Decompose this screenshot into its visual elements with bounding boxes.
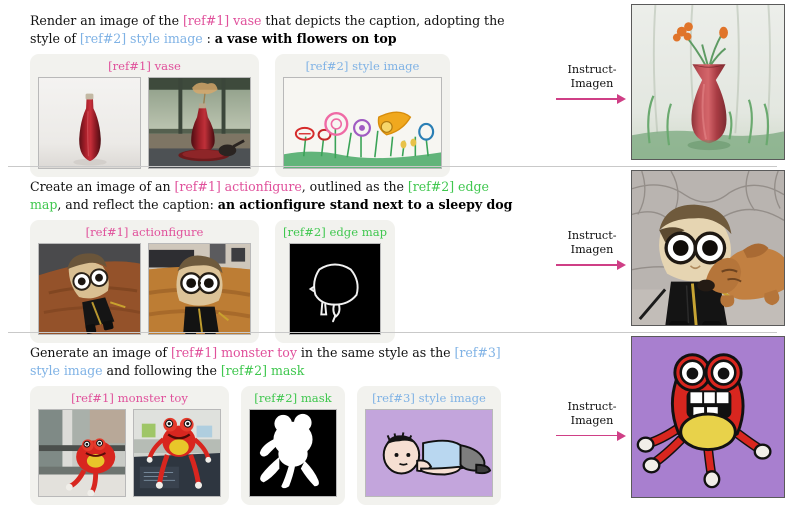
generated-figure-with-sleeping-dog [631,170,785,326]
reference-panel-ref3-style-image: [ref#3] style image [357,386,501,505]
arrow-glyph-icon [556,431,628,441]
arrow-label: Instruct-Imagen [568,229,617,257]
instr-seg: and following the [103,363,221,378]
reference-panel-ref2-mask: [ref#2] mask [241,386,345,505]
ref2-token: [ref#2] style image [80,31,203,46]
arrow-label: Instruct-Imagen [568,63,617,91]
figure-root: Render an image of the [ref#1] vase that… [0,0,785,509]
row-2-output [631,168,785,331]
example-row-1: Render an image of the [ref#1] vase that… [0,2,785,165]
instr-seg: Generate an image of [30,345,171,360]
panel-title: [ref#2] mask [254,391,331,405]
cartoon-sleeping-person-purple [365,409,493,497]
generated-red-cartoon-monster-purple [631,336,785,498]
panel-title: [ref#2] edge map [283,225,387,239]
generated-red-vase-with-flowers [631,4,785,160]
panel-title: [ref#2] style image [306,59,420,73]
panel-title: [ref#3] style image [372,391,486,405]
row-1-arrow: Instruct-Imagen [553,2,631,165]
instr-seg: : [203,31,215,46]
row-1-input-block: Render an image of the [ref#1] vase that… [0,2,553,165]
instr-seg: Render an image of the [30,13,183,28]
ref1-token: [ref#1] monster toy [171,345,297,360]
row-divider [8,166,777,167]
arrow-label: Instruct-Imagen [568,400,617,428]
vase-studio-photo [38,77,141,169]
funko-figure-on-desk [38,243,141,335]
row-3-instruction: Generate an image of [ref#1] monster toy… [30,344,519,381]
ref1-token: [ref#1] actionfigure [175,179,302,194]
row-1-output [631,2,785,165]
reference-panel-ref2-style-image: [ref#2] style image [275,54,450,177]
vase-window-photo [148,77,251,169]
row-2-input-block: Create an image of an [ref#1] actionfigu… [0,168,553,331]
row-2-arrow: Instruct-Imagen [553,168,631,331]
instr-seg: , outlined as the [302,179,408,194]
row-3-input-block: Generate an image of [ref#1] monster toy… [0,334,553,506]
panel-title: [ref#1] actionfigure [86,225,204,239]
example-row-2: Create an image of an [ref#1] actionfigu… [0,168,785,331]
instr-seg: in the same style as the [297,345,455,360]
instr-seg: , and reflect the caption: [57,197,217,212]
reference-panel-ref1-actionfigure: [ref#1] actionfigure [30,220,259,343]
row-3-reference-panels: [ref#1] monster toy [30,386,519,505]
row-1-reference-panels: [ref#1] vase [30,54,519,177]
panel-title: [ref#1] monster toy [71,391,188,405]
row-3-output [631,334,785,506]
red-monster-toy-desk [133,409,221,497]
ref2-token: [ref#2] mask [221,363,304,378]
arrow-glyph-icon [556,94,628,104]
childlike-flower-drawing [283,77,442,169]
row-2-reference-panels: [ref#1] actionfigure [30,220,519,343]
row-3-arrow: Instruct-Imagen [553,334,631,506]
reference-panel-ref1-monster-toy: [ref#1] monster toy [30,386,229,505]
row-divider [8,332,777,333]
reference-panel-ref2-edge-map: [ref#2] edge map [275,220,395,343]
red-monster-toy-window [38,409,126,497]
edge-map-head-outline [289,243,381,335]
example-row-3: Generate an image of [ref#1] monster toy… [0,334,785,506]
caption-text: an actionfigure stand next to a sleepy d… [218,197,513,212]
white-silhouette-mask [249,409,337,497]
caption-text: a vase with flowers on top [215,31,397,46]
row-2-instruction: Create an image of an [ref#1] actionfigu… [30,178,519,215]
row-1-instruction: Render an image of the [ref#1] vase that… [30,12,519,49]
instr-seg: Create an image of an [30,179,175,194]
funko-figure-closeup [148,243,251,335]
panel-title: [ref#1] vase [108,59,181,73]
ref1-token: [ref#1] vase [183,13,261,28]
reference-panel-ref1-vase: [ref#1] vase [30,54,259,177]
arrow-glyph-icon [556,260,628,270]
